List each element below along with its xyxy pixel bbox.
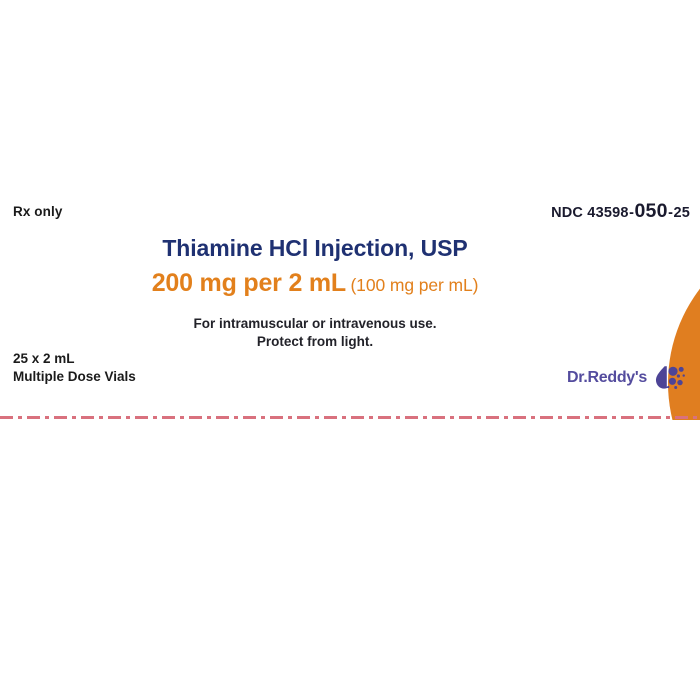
package-quantity-block: 25 x 2 mL Multiple Dose Vials xyxy=(13,350,136,386)
ndc-number: NDC 43598-050-25 xyxy=(551,202,690,222)
product-name: Thiamine HCl Injection, USP xyxy=(0,235,630,262)
storage-instruction: Protect from light. xyxy=(0,333,630,351)
rx-only-statement: Rx only xyxy=(13,204,62,219)
carton-label-artwork: Rx only NDC 43598-050-25 Thiamine HCl In… xyxy=(0,0,700,700)
ndc-labeler-code: NDC 43598 xyxy=(551,205,629,221)
ndc-package-code: 25 xyxy=(673,205,690,221)
route-of-administration: For intramuscular or intravenous use. xyxy=(0,315,630,333)
usage-instructions: For intramuscular or intravenous use. Pr… xyxy=(0,315,630,351)
orange-circle-decoration xyxy=(668,228,700,420)
manufacturer-logo: Dr.Reddy's xyxy=(567,365,687,391)
ndc-product-code: 050 xyxy=(634,200,667,222)
carton-front-panel: Rx only NDC 43598-050-25 Thiamine HCl In… xyxy=(0,175,700,420)
perforation-tear-line xyxy=(0,416,700,419)
package-count: 25 x 2 mL xyxy=(13,350,136,368)
container-type: Multiple Dose Vials xyxy=(13,368,136,386)
brand-wordmark: Dr.Reddy's xyxy=(567,369,647,387)
strength-concentration: (100 mg per mL) xyxy=(350,275,478,295)
strength-statement: 200 mg per 2 mL (100 mg per mL) xyxy=(0,270,630,298)
dr-reddys-droplet-icon xyxy=(653,365,687,391)
strength-total: 200 mg per 2 mL xyxy=(152,269,346,297)
